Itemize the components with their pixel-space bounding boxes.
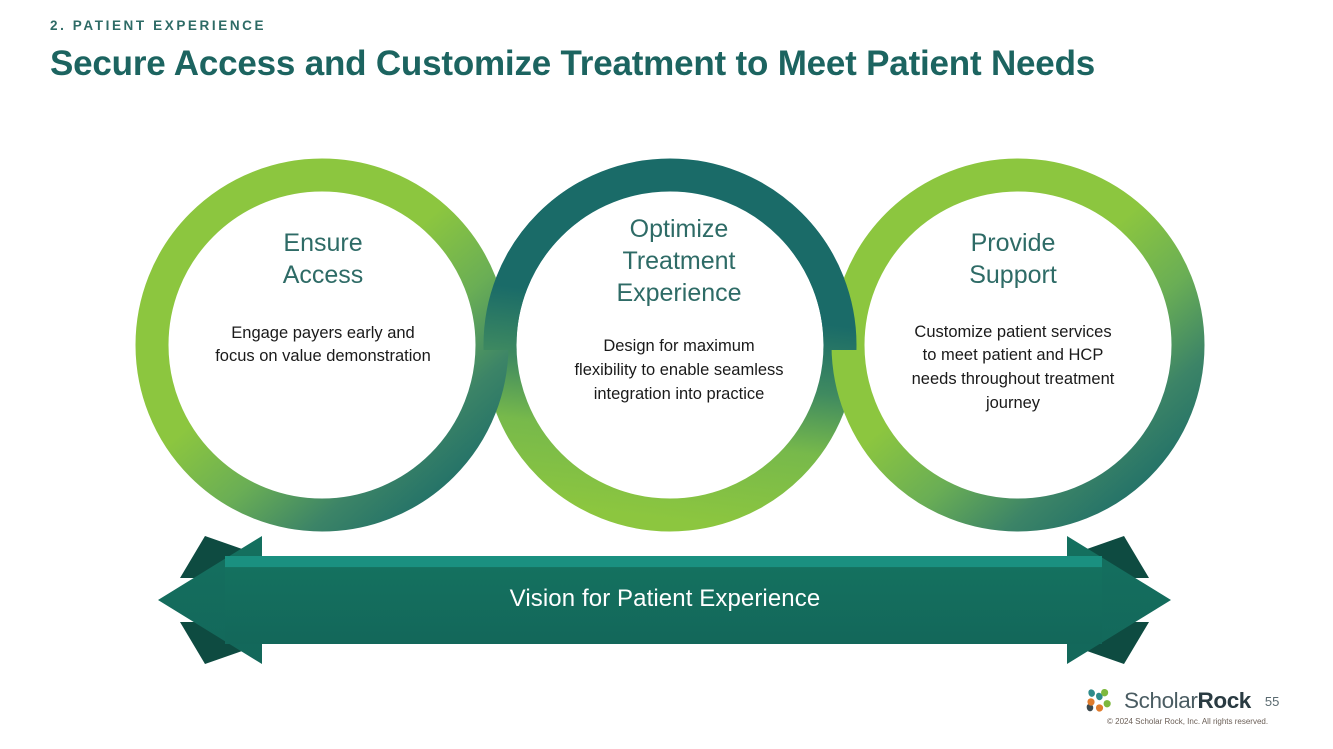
wordmark-scholar: Scholar [1124,688,1198,713]
copyright-notice: © 2024 Scholar Rock, Inc. All rights res… [1107,717,1325,726]
page-number: 55 [1265,695,1279,708]
process-diagram [0,0,1333,749]
scholar-rock-wordmark: ScholarRock [1124,690,1251,713]
circle-ring-optimize-treatment-experience [500,175,840,515]
circle-ring-ensure-access [152,175,492,515]
circle-content-optimize-treatment-experience: Optimize Treatment Experience Design for… [534,214,824,407]
slide-header: 2. PATIENT EXPERIENCE Secure Access and … [50,18,1290,84]
circle-content-ensure-access: Ensure Access Engage payers early and fo… [178,228,468,369]
arrow-label: Vision for Patient Experience [260,585,1070,613]
circle-body-ensure-access: Engage payers early and focus on value d… [178,322,468,370]
scholar-rock-logo-icon [1085,688,1119,714]
circle-ring-provide-support [848,175,1188,515]
circle-heading-ensure-access: Ensure Access [178,228,468,292]
circle-heading-provide-support: Provide Support [863,228,1163,292]
circle-heading-optimize-treatment-experience: Optimize Treatment Experience [534,214,824,309]
section-eyebrow: 2. PATIENT EXPERIENCE [50,18,1290,34]
page-title: Secure Access and Customize Treatment to… [50,43,1290,84]
wordmark-rock: Rock [1198,688,1251,713]
circle-content-provide-support: Provide Support Customize patient servic… [863,228,1163,416]
circle-interlock-overlaps [500,175,840,515]
slide-footer: ScholarRock 55 © 2024 Scholar Rock, Inc.… [1085,688,1325,743]
circle-body-provide-support: Customize patient services to meet patie… [863,321,1163,416]
circle-body-optimize-treatment-experience: Design for maximum flexibility to enable… [534,335,824,406]
vision-arrow-banner [158,536,1171,664]
logo-row: ScholarRock 55 [1085,688,1325,714]
